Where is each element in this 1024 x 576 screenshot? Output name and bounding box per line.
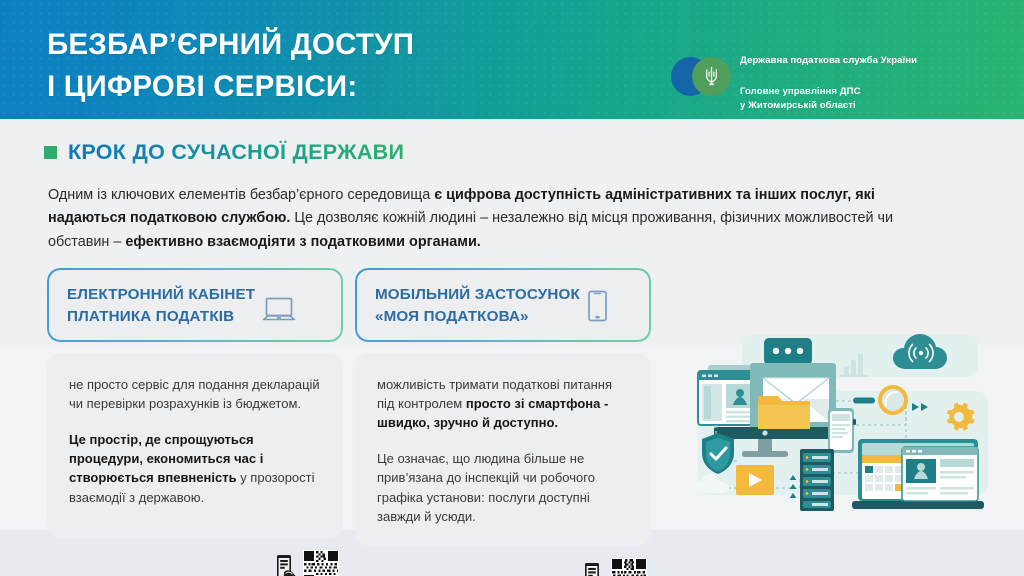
trident-icon [705,66,718,86]
section-accent-square [44,146,57,159]
card-paragraph-1: можливість тримати податкові питання під… [377,375,631,432]
section-title: КРОК ДО СУЧАСНОЇ ДЕРЖАВИ [68,140,404,165]
card-header-mobile-app[interactable]: МОБІЛЬНИЙ ЗАСТОСУНОК «МОЯ ПОДАТКОВА» [355,268,651,342]
card-electronic-cabinet: ЕЛЕКТРОННИЙ КАБІНЕТ ПЛАТНИКА ПОДАТКІВ не… [47,268,343,546]
intro-text-1: Одним із ключових елементів безбар’єрног… [48,187,434,203]
logo-green-circle [692,57,731,96]
intro-paragraph: Одним із ключових елементів безбар’єрног… [48,184,948,254]
card-header-electronic-cabinet[interactable]: ЕЛЕКТРОННИЙ КАБІНЕТ ПЛАТНИКА ПОДАТКІВ [47,268,343,342]
qr-row-mobile-app[interactable] [583,558,647,576]
card-body-mobile-app: можливість тримати податкові питання під… [355,353,651,546]
play-button-icon [736,465,774,495]
laptop-icon [262,297,296,327]
section-heading: КРОК ДО СУЧАСНОЇ ДЕРЖАВИ [44,140,404,165]
smartphone-icon [587,290,608,327]
card-paragraph-1: не просто сервіс для подання декларацій … [69,375,323,413]
card-mobile-app: МОБІЛЬНИЙ ЗАСТОСУНОК «МОЯ ПОДАТКОВА» мож… [355,268,651,546]
service-cards: ЕЛЕКТРОННИЙ КАБІНЕТ ПЛАТНИКА ПОДАТКІВ не… [47,268,667,546]
hand-phone-scan-icon [275,554,300,576]
organization-logo: Державна податкова служба України Головн… [671,39,917,114]
logo-marks [671,57,731,96]
smartphone-icon [828,408,856,453]
qr-row-electronic-cabinet[interactable] [275,550,339,576]
intro-bold-2: ефективно взаємодіяти з податковими орга… [125,234,480,250]
laptop-window-icon [852,439,984,509]
card-paragraph-2: Це простір, де спрощуються процедури, ек… [69,430,323,506]
card-paragraph-2: Це означає, що людина більше не прив’яза… [377,449,631,525]
card-body-electronic-cabinet: не просто сервіс для подання декларацій … [47,353,343,538]
qr-code-icon[interactable] [303,550,339,576]
logo-line-2: Головне управління ДПС у Житомирській об… [740,86,861,112]
qr-code-icon[interactable] [611,558,647,576]
card-title-mobile-app: МОБІЛЬНИЙ ЗАСТОСУНОК «МОЯ ПОДАТКОВА» [375,284,580,327]
logo-line-1: Державна податкова служба України [740,54,917,69]
logo-text: Державна податкова служба України Головн… [740,39,917,114]
infographic-page: БЕЗБАР’ЄРНИЙ ДОСТУП І ЦИФРОВІ СЕРВІСИ: [0,0,1024,576]
card-paragraph-2-bold: Це простір, де спрощуються процедури, ек… [69,432,263,485]
page-title: БЕЗБАР’ЄРНИЙ ДОСТУП І ЦИФРОВІ СЕРВІСИ: [47,24,414,108]
card-title-electronic-cabinet: ЕЛЕКТРОННИЙ КАБІНЕТ ПЛАТНИКА ПОДАТКІВ [67,284,255,327]
hand-phone-scan-icon [583,562,608,576]
page-header: БЕЗБАР’ЄРНИЙ ДОСТУП І ЦИФРОВІ СЕРВІСИ: [0,0,1024,119]
digital-services-illustration [680,333,1020,533]
